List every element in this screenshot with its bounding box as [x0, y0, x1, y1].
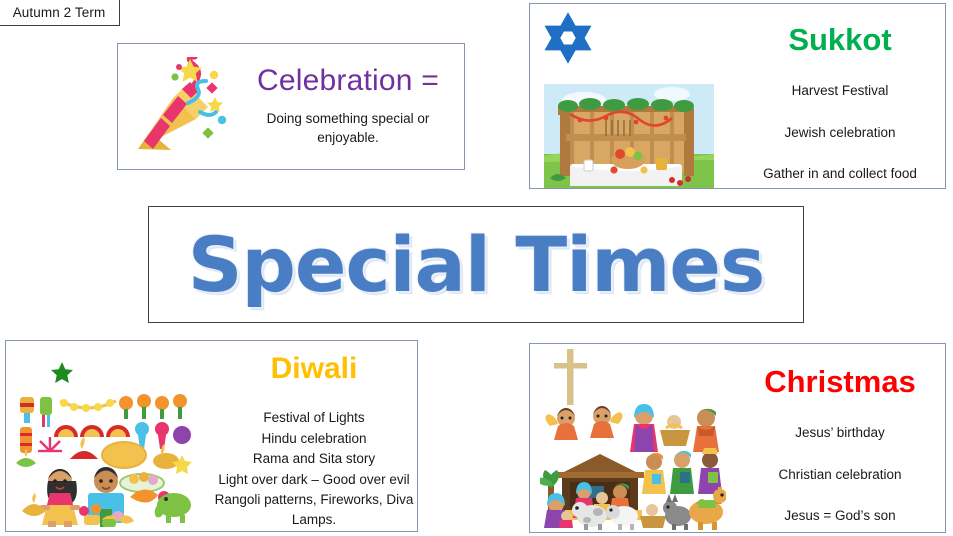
list-item: Christian celebration	[778, 465, 901, 485]
party-popper-icon	[122, 57, 242, 157]
crescent-moon-star-icon	[16, 347, 76, 399]
term-tag: Autumn 2 Term	[0, 0, 120, 26]
nativity-scene-illustration	[540, 400, 726, 530]
diwali-items-illustration	[14, 393, 200, 529]
sukkot-lines: Harvest Festival Jewish celebration Gath…	[735, 81, 945, 184]
sukkah-hut-illustration	[544, 84, 714, 188]
list-item: Gather in and collect food	[763, 164, 917, 184]
christmas-lines: Jesus’ birthday Christian celebration Je…	[735, 423, 945, 526]
star-of-david-icon	[540, 10, 596, 66]
card-diwali: Diwali Festival of Lights Hindu celebrat…	[5, 340, 418, 532]
list-item: Harvest Festival	[792, 81, 889, 101]
celebration-body: Doing something special or enjoyable.	[242, 110, 454, 146]
list-item: Jewish celebration	[784, 123, 895, 143]
list-item: Rama and Sita story	[253, 449, 375, 469]
card-sukkot: Sukkot Harvest Festival Jewish celebrati…	[529, 3, 946, 189]
diwali-title: Diwali	[271, 354, 358, 384]
poster-title-box: Special Times	[148, 206, 804, 323]
page-title: Special Times	[188, 227, 764, 303]
diwali-lines: Festival of Lights Hindu celebration Ram…	[211, 408, 417, 529]
celebration-heading: Celebration =	[257, 66, 439, 96]
christmas-title: Christmas	[764, 366, 916, 397]
list-item: Hindu celebration	[261, 429, 366, 449]
list-item: Jesus’ birthday	[795, 423, 885, 443]
christian-cross-icon	[548, 348, 594, 406]
term-tag-label: Autumn 2 Term	[13, 5, 106, 20]
poster-canvas: Autumn 2 Term	[0, 0, 953, 536]
card-celebration: Celebration = Doing something special or…	[117, 43, 465, 170]
sukkot-title: Sukkot	[788, 24, 891, 55]
list-item: Light over dark – Good over evil	[218, 470, 409, 490]
list-item: Rangoli patterns, Fireworks, Diva Lamps.	[212, 490, 417, 529]
card-christmas: Christmas Jesus’ birthday Christian cele…	[529, 343, 946, 533]
list-item: Jesus = God’s son	[784, 506, 895, 526]
list-item: Festival of Lights	[263, 408, 364, 428]
